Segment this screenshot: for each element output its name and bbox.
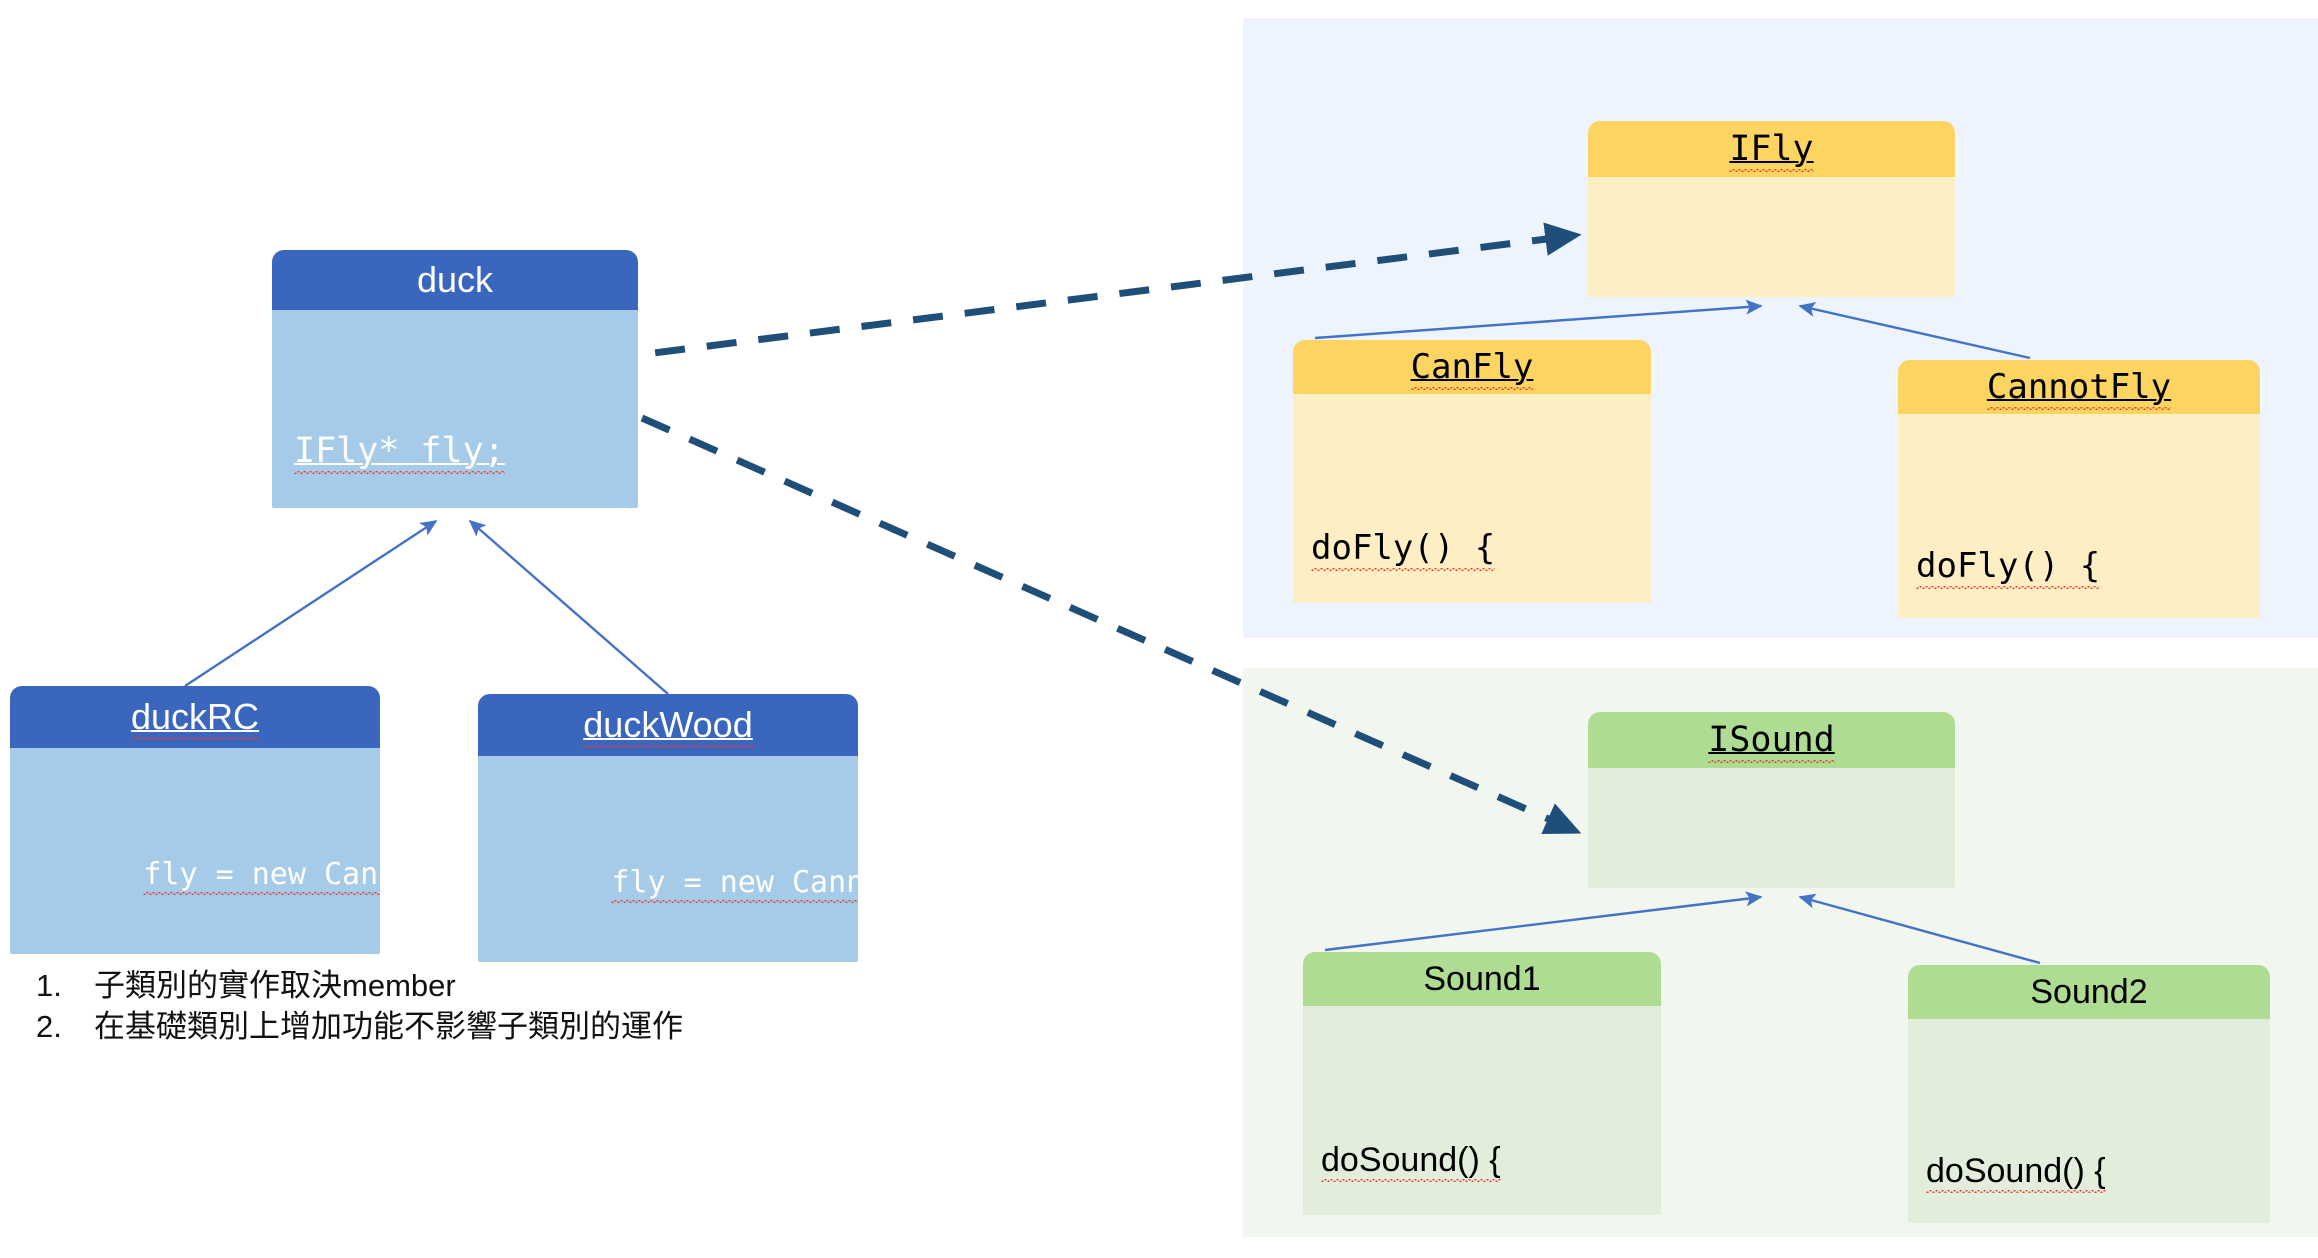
class-title-cannotfly: CannotFly — [1898, 360, 2260, 414]
class-box-duckwood[interactable]: duckWood fly = new CannotFly() — [478, 694, 858, 962]
note-text: 子類別的實作取決member — [94, 965, 456, 1006]
class-members-canfly: doFly() { “Can fly” } — [1293, 394, 1651, 603]
class-members-isound: doSound() … — [1588, 768, 1955, 888]
class-title-ifly: IFly — [1588, 121, 1955, 177]
class-title-duck: duck — [272, 250, 638, 310]
notes-list: 1. 子類別的實作取決member 2. 在基礎類別上增加功能不影響子類別的運作 — [36, 965, 1036, 1047]
class-box-sound1[interactable]: Sound1 doSound() { “Sound1” } — [1303, 952, 1661, 1215]
note-item: 2. 在基礎類別上增加功能不影響子類別的運作 — [36, 1006, 1036, 1047]
method-dosound-sound1: doSound() { — [1321, 1141, 1501, 1182]
class-title-sound1: Sound1 — [1303, 952, 1661, 1006]
class-title-isound: ISound — [1588, 712, 1955, 768]
class-box-cannotfly[interactable]: CannotFly doFly() { “Cannot fly” } — [1898, 360, 2260, 618]
class-title-duckrc: duckRC — [10, 686, 380, 748]
assignment-duckwood-fly: fly = new CannotFly() — [611, 865, 858, 903]
connector-duckrc-to-duck — [185, 521, 436, 686]
class-title-duckwood: duckWood — [478, 694, 858, 756]
method-dosound-isound: doSound() — [1606, 884, 1769, 888]
class-members-ifly: doFly() … — [1588, 177, 1955, 297]
class-box-duck[interactable]: duck IFly* fly; Isound* sound; … — [272, 250, 638, 508]
method-dofly-ifly: doFly() — [1606, 293, 1715, 297]
member-ifly-fly: IFly* fly; — [294, 431, 505, 474]
class-members-sound2: doSound() { “Sound2” } — [1908, 1019, 2270, 1223]
note-item: 1. 子類別的實作取決member — [36, 965, 1036, 1006]
class-box-isound[interactable]: ISound doSound() … — [1588, 712, 1955, 888]
method-dofly-canfly: doFly() { — [1311, 528, 1495, 571]
class-title-canfly: CanFly — [1293, 340, 1651, 394]
class-box-duckrc[interactable]: duckRC fly = new CanFly() — [10, 686, 380, 954]
note-number: 1. — [36, 965, 94, 1006]
method-dosound-sound2: doSound() { — [1926, 1152, 2106, 1193]
method-dofly-cannotfly: doFly() { — [1916, 546, 2100, 589]
class-box-ifly[interactable]: IFly doFly() … — [1588, 121, 1955, 297]
class-members-cannotfly: doFly() { “Cannot fly” } — [1898, 414, 2260, 618]
class-members-duck: IFly* fly; Isound* sound; … — [272, 310, 638, 508]
note-text: 在基礎類別上增加功能不影響子類別的運作 — [94, 1006, 683, 1047]
assignment-duckrc-fly: fly = new CanFly() — [143, 857, 380, 895]
class-members-duckwood: fly = new CannotFly() — [478, 756, 858, 962]
class-box-canfly[interactable]: CanFly doFly() { “Can fly” } — [1293, 340, 1651, 603]
class-box-sound2[interactable]: Sound2 doSound() { “Sound2” } — [1908, 965, 2270, 1223]
diagram-canvas: duck IFly* fly; Isound* sound; … duckRC … — [0, 0, 2318, 1258]
class-members-sound1: doSound() { “Sound1” } — [1303, 1006, 1661, 1215]
class-members-duckrc: fly = new CanFly() — [10, 748, 380, 954]
connector-duckwood-to-duck — [470, 521, 668, 694]
class-title-sound2: Sound2 — [1908, 965, 2270, 1019]
note-number: 2. — [36, 1006, 94, 1047]
